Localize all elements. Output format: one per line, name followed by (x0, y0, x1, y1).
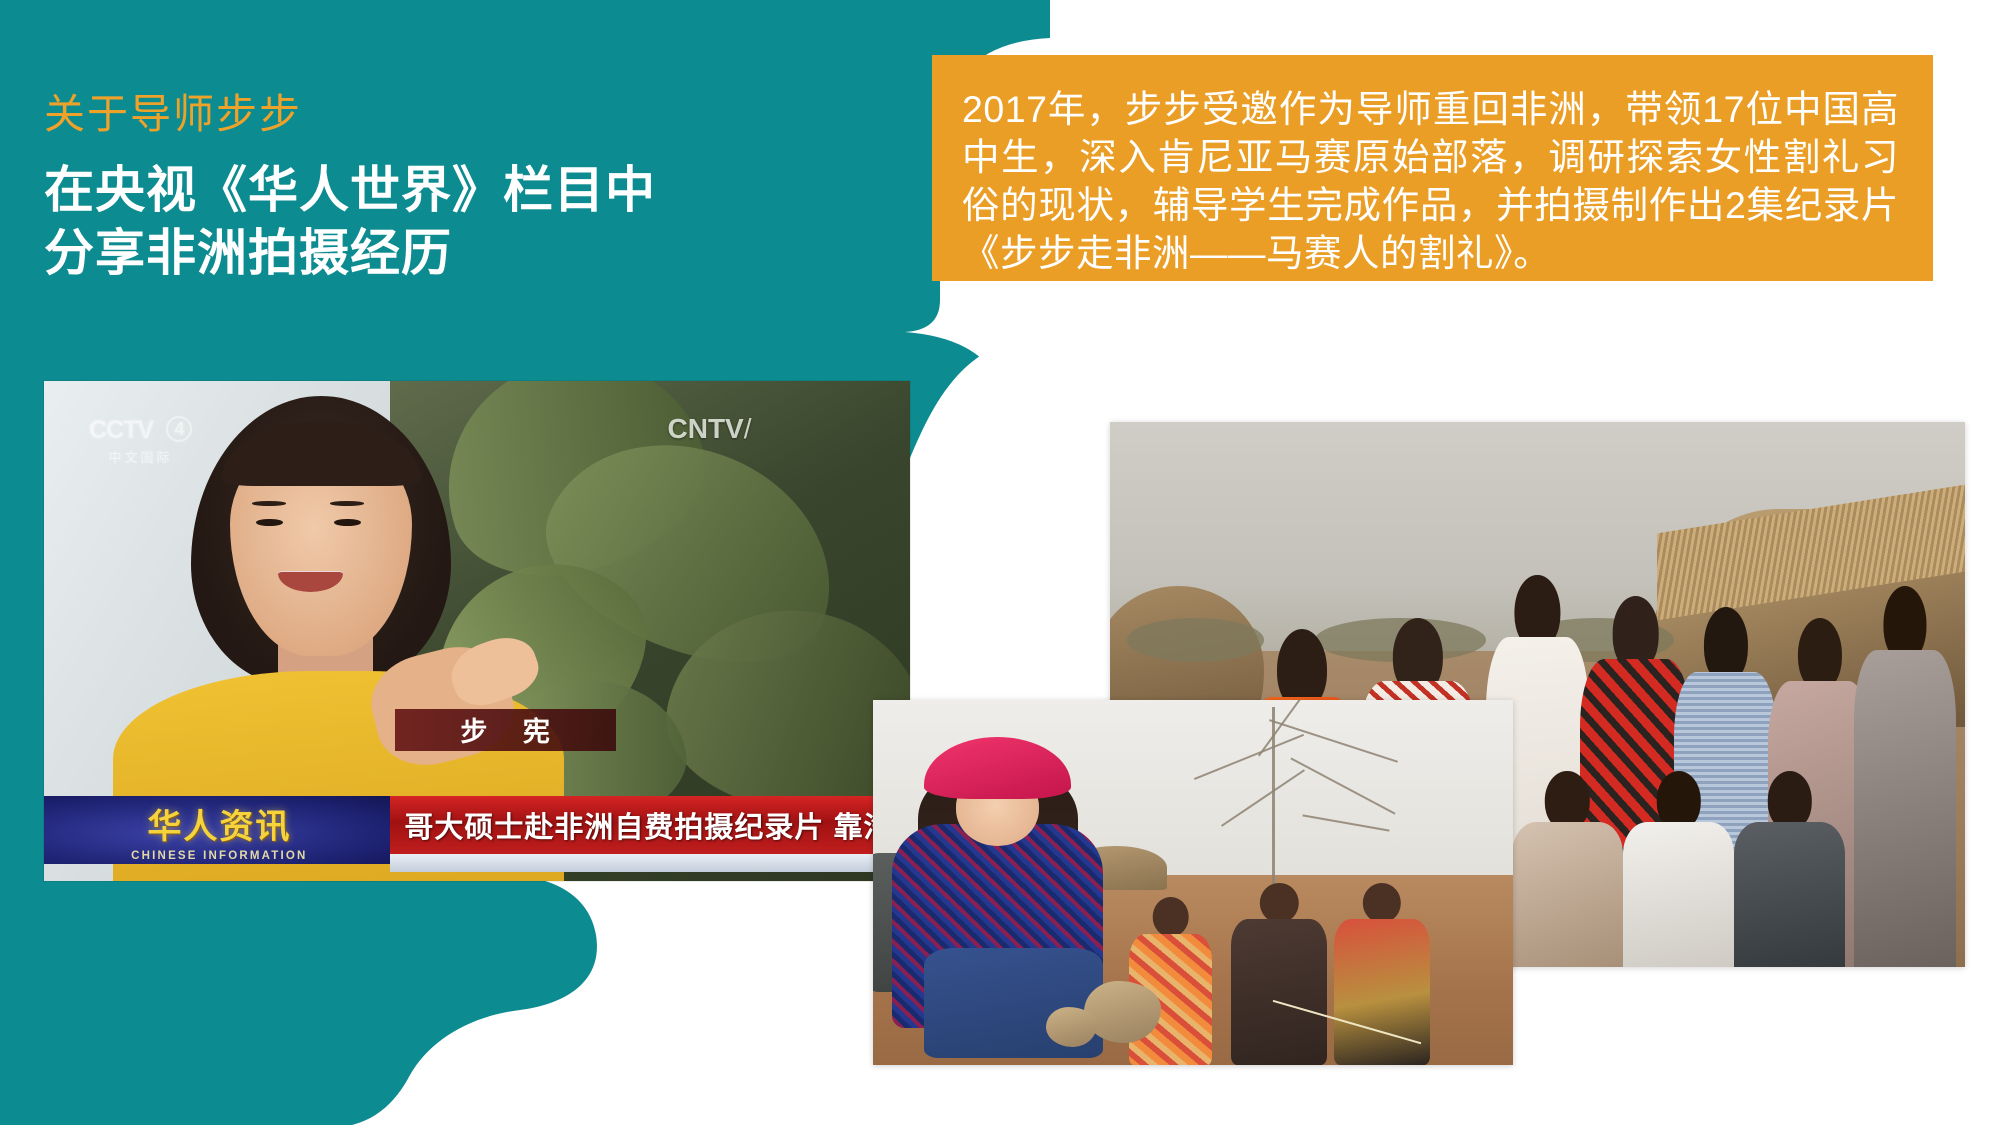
cntv-slash-icon: / (744, 413, 752, 444)
rock (1046, 1007, 1097, 1047)
person-jacket (1854, 650, 1957, 967)
cctv-wordmark: CCTV (89, 416, 153, 444)
cctv-channel-subtitle: 中文国际 (89, 447, 192, 466)
person-head (1767, 771, 1811, 830)
tree-branch (1221, 769, 1305, 827)
headline-title: 在央视《华人世界》栏目中 分享非洲拍摄经历 (44, 159, 884, 285)
headline-title-line-2: 分享非洲拍摄经历 (44, 222, 884, 285)
person-head (1656, 771, 1700, 830)
subject-eyebrow (330, 501, 365, 506)
child-head (1363, 883, 1401, 923)
cctv-interview-screenshot: CCTV 4 中文国际 CNTV/ 步 宪 华人资讯 CHINESE INFOR… (44, 381, 910, 881)
teal-footer-shape (0, 875, 597, 1125)
cntv-wordmark: CNTV (668, 413, 744, 444)
maasai-child (1129, 897, 1212, 1065)
cctv-channel-number: 4 (166, 416, 192, 442)
tree-branch (1194, 734, 1304, 780)
child-shirt (1231, 919, 1327, 1065)
student-crouching (1623, 771, 1734, 967)
subject-eyebrow (252, 501, 287, 506)
cctv-channel-logo: CCTV 4 中文国际 (89, 416, 192, 466)
child-shirt (1334, 919, 1430, 1065)
person-top (1512, 822, 1623, 967)
orange-callout-box: 2017年，步步受邀作为导师重回非洲，带领17位中国高中生，深入肯尼亚马赛原始部… (932, 55, 1933, 281)
child-head (1152, 897, 1189, 937)
maasai-children-photo (873, 700, 1513, 1065)
interviewee-nametag: 步 宪 (395, 709, 616, 752)
tree-branch (1291, 757, 1396, 814)
program-brand-en: CHINESE INFORMATION (131, 850, 307, 862)
maasai-child (1231, 883, 1327, 1066)
cctv-logo-row: CCTV 4 (89, 416, 192, 445)
headline-title-line-1: 在央视《华人世界》栏目中 (44, 159, 884, 222)
interviewee-name: 步 宪 (446, 710, 564, 749)
bush (1127, 618, 1264, 662)
student-crouching (1512, 771, 1623, 967)
slide-canvas: 关于导师步步 在央视《华人世界》栏目中 分享非洲拍摄经历 2017年，步步受邀作… (0, 0, 2000, 1125)
maasai-child (1334, 883, 1430, 1066)
headline-kicker: 关于导师步步 (44, 92, 884, 137)
person-hoodie (1623, 822, 1734, 967)
person-top (1734, 822, 1845, 967)
tree-branch (1302, 814, 1389, 831)
subject-eye (334, 519, 361, 527)
news-bar-underline (390, 854, 910, 873)
program-brand-badge: 华人资讯 CHINESE INFORMATION (44, 796, 395, 864)
subject-eye (256, 519, 283, 527)
headline-block: 关于导师步步 在央视《华人世界》栏目中 分享非洲拍摄经历 (44, 92, 884, 285)
person-head (1545, 771, 1589, 830)
program-brand-zh: 华人资讯 (147, 799, 291, 848)
callout-body-text: 2017年，步步受邀作为导师重回非洲，带领17位中国高中生，深入肯尼亚马赛原始部… (962, 85, 1899, 277)
student-crouching (1734, 771, 1845, 967)
child-head (1260, 883, 1298, 923)
news-headline-strip: 哥大硕士赴非洲自费拍摄纪录片 靠汽水获得独家拍摄机会 (390, 796, 910, 854)
lower-third-news-bar: 华人资讯 CHINESE INFORMATION 哥大硕士赴非洲自费拍摄纪录片 … (44, 796, 910, 881)
student (1854, 586, 1957, 968)
bare-tree (1155, 707, 1449, 911)
news-headline-text: 哥大硕士赴非洲自费拍摄纪录片 靠汽水获得独家拍摄机会 (404, 804, 910, 846)
cntv-watermark: CNTV/ (668, 413, 752, 445)
